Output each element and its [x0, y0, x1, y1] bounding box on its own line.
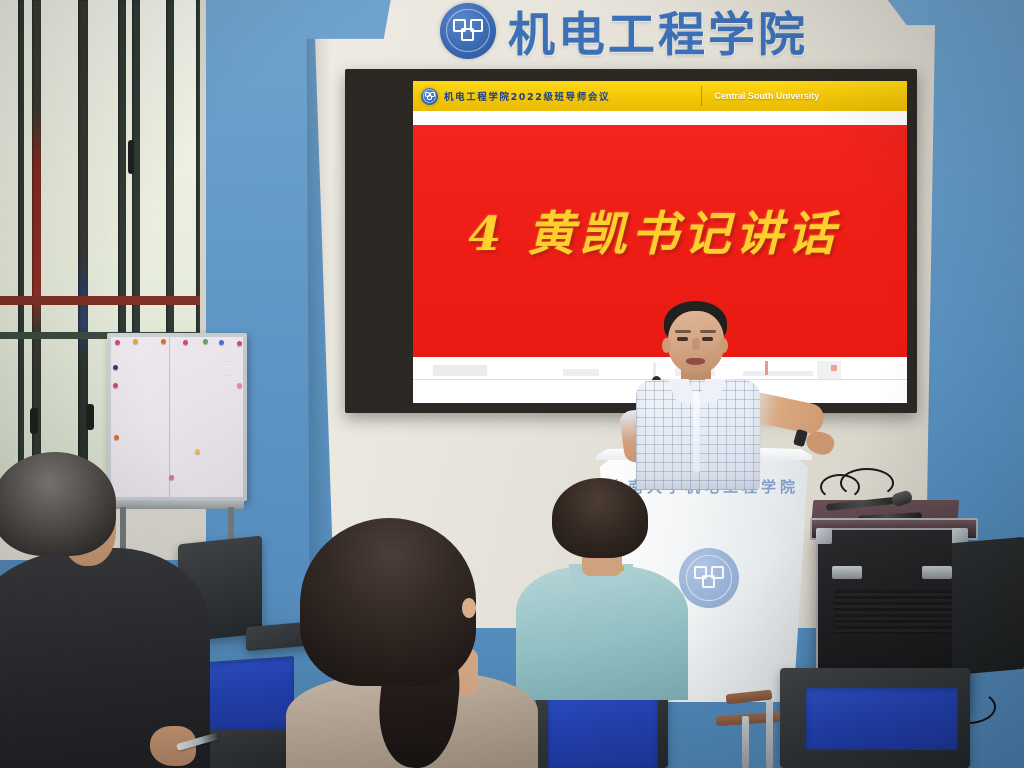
magnet-icon[interactable]	[219, 340, 224, 345]
slide-white-gap	[413, 111, 907, 125]
speaker-shirt-placket	[693, 392, 700, 472]
window-handle-icon[interactable]	[30, 408, 38, 434]
magnet-icon[interactable]	[183, 340, 188, 345]
display-monitor	[952, 537, 1024, 675]
whiteboard-surface: ····· ····	[111, 337, 243, 497]
projection-screen: 机电工程学院2022级班导师会议 Central South Universit…	[345, 69, 917, 413]
attendee-teal-shirt	[516, 566, 688, 700]
csu-seal-icon	[440, 3, 496, 59]
attendee-hair	[552, 478, 648, 558]
speaker-ear-right	[719, 338, 728, 353]
case-latch-icon[interactable]	[832, 566, 862, 579]
speaker-brow-right	[700, 330, 716, 333]
magnet-icon[interactable]	[161, 339, 166, 344]
magnet-icon[interactable]	[203, 339, 208, 344]
attendee-ear	[462, 598, 476, 618]
slide-header-title: 机电工程学院2022级班导师会议	[444, 89, 610, 103]
magnet-icon[interactable]	[169, 475, 174, 480]
cable-icon	[840, 468, 894, 498]
window-latch-icon[interactable]	[86, 404, 94, 430]
slide-title: 4 黄凯书记讲话	[468, 195, 839, 264]
whiteboard-seam	[169, 337, 170, 497]
conference-room-photo: 机电工程学院 机电工程学院2022级班导师会议	[0, 0, 1024, 768]
magnet-icon[interactable]	[237, 383, 242, 388]
speaker-mouth	[686, 358, 705, 365]
seat-cushion[interactable]	[806, 688, 958, 750]
magnet-icon[interactable]	[237, 341, 242, 346]
magnet-icon[interactable]	[133, 339, 138, 344]
attendee-hair	[0, 452, 116, 556]
speaker-eye-left	[677, 337, 688, 341]
rack-vent	[834, 590, 954, 634]
speaker-eye-right	[702, 337, 713, 341]
slide-header-subtitle: Central South University	[714, 91, 819, 101]
slide-csu-seal-icon	[421, 88, 438, 105]
magnet-icon[interactable]	[114, 435, 119, 440]
podium-csu-seal-icon	[679, 548, 739, 608]
magnet-icon[interactable]	[195, 449, 200, 454]
whiteboard-note-line-1: ·····	[222, 359, 235, 365]
slide-body: 4 黄凯书记讲话	[413, 125, 907, 357]
whiteboard: ····· ····	[107, 333, 247, 501]
speaker-nose	[692, 338, 700, 350]
magnet-icon[interactable]	[113, 383, 118, 388]
case-corner-icon	[816, 528, 832, 544]
speaker-ear-left	[662, 338, 671, 353]
presentation-slide: 机电工程学院2022级班导师会议 Central South Universit…	[413, 81, 907, 403]
whiteboard-note-line-2: ····	[225, 373, 235, 379]
screen-surface: 机电工程学院2022级班导师会议 Central South Universit…	[413, 81, 907, 403]
window-catch-icon[interactable]	[128, 140, 134, 174]
case-latch-icon[interactable]	[922, 566, 952, 579]
speaker-brow-left	[675, 330, 691, 333]
slide-header-band: 机电工程学院2022级班导师会议 Central South Universit…	[413, 81, 907, 111]
attendee-hair	[300, 518, 476, 686]
wall-signage: 机电工程学院	[440, 0, 808, 65]
magnet-icon[interactable]	[115, 340, 120, 345]
armrest-post	[742, 716, 749, 768]
wall-sign-text: 机电工程学院	[508, 0, 808, 65]
armrest-post	[766, 700, 773, 768]
header-divider	[701, 86, 702, 106]
magnet-icon[interactable]	[113, 365, 118, 370]
